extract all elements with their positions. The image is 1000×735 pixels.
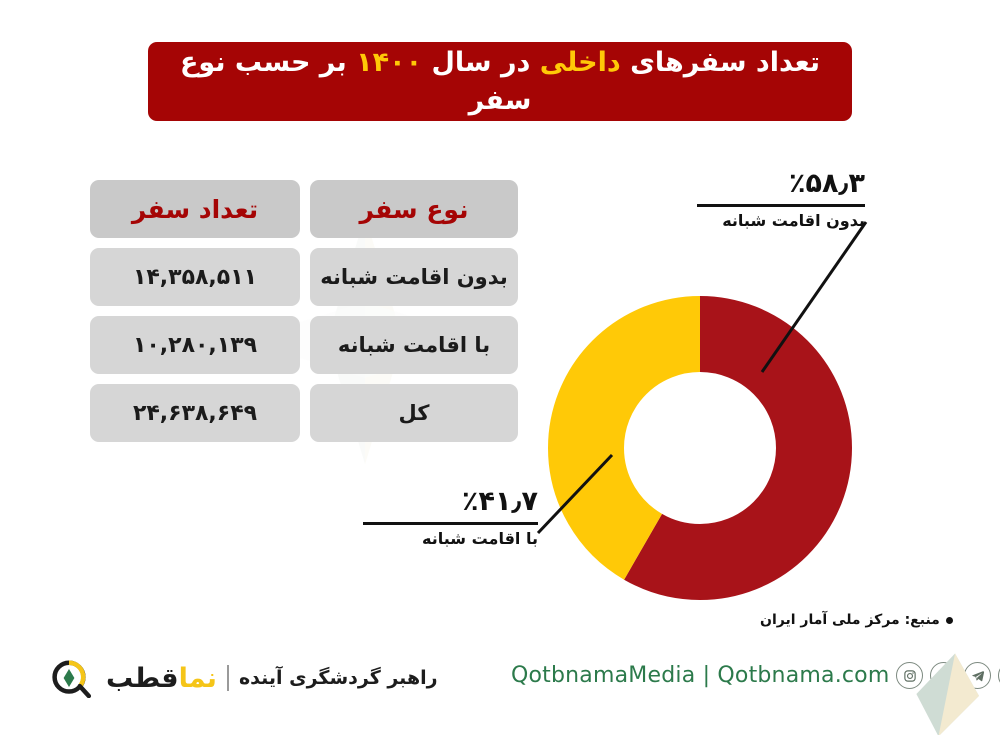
social-footer: QotbnamaMedia | Qotbnama.com [502, 662, 1000, 689]
table-row: با اقامت شبانه ۱۰,۲۸۰,۱۳۹ [90, 316, 518, 374]
callout-bottom-label: با اقامت شبانه [363, 529, 538, 548]
table-cell-count-value: ۱۰,۲۸۰,۱۳۹ [133, 333, 257, 358]
title-highlight-year: ۱۴۰۰ [356, 47, 422, 78]
social-handle-website: Qotbnama.com [717, 663, 889, 688]
title-part-1: تعداد سفرهای [621, 47, 820, 78]
brand-wordmark-part-b: قطب [106, 663, 179, 694]
social-handle-media: QotbnamaMedia [511, 663, 695, 688]
qotbnama-logo-icon [42, 658, 96, 698]
callout-bottom-rule [363, 522, 538, 525]
instagram-icon[interactable] [896, 662, 923, 689]
chart-title-banner: تعداد سفرهای داخلی در سال ۱۴۰۰ بر حسب نو… [148, 42, 852, 121]
telegram-icon[interactable] [964, 662, 991, 689]
callout-top-rule [697, 204, 865, 207]
social-handles[interactable]: QotbnamaMedia | Qotbnama.com [511, 663, 889, 688]
callout-bottom-percent: ٪۴۱٫۷ [363, 486, 538, 517]
table-cell-count-value: ۱۴,۳۵۸,۵۱۱ [133, 265, 257, 290]
table-cell-type-label: کل [399, 401, 430, 425]
callout-with-overnight: ٪۴۱٫۷ با اقامت شبانه [363, 486, 538, 548]
table-cell-type: بدون اقامت شبانه [310, 248, 518, 306]
table-header-count-label: تعداد سفر [132, 195, 258, 224]
linkedin-icon[interactable] [930, 662, 957, 689]
social-handle-separator: | [695, 663, 717, 688]
table-cell-type: کل [310, 384, 518, 442]
title-part-2: در سال [422, 47, 540, 78]
title-highlight-domestic: داخلی [540, 47, 621, 78]
source-note: منبع: مرکز ملی آمار ایران [760, 612, 953, 628]
table-cell-type: با اقامت شبانه [310, 316, 518, 374]
table-cell-count: ۱۴,۳۵۸,۵۱۱ [90, 248, 300, 306]
table-cell-count: ۲۴,۶۳۸,۶۴۹ [90, 384, 300, 442]
infographic-page: تعداد سفرهای داخلی در سال ۱۴۰۰ بر حسب نو… [0, 0, 1000, 735]
brand-wordmark-part-a: نما [179, 663, 217, 694]
table-cell-count: ۱۰,۲۸۰,۱۳۹ [90, 316, 300, 374]
page-title: تعداد سفرهای داخلی در سال ۱۴۰۰ بر حسب نو… [166, 44, 834, 119]
callout-top-label: بدون اقامت شبانه [697, 211, 865, 230]
table-header-row: نوع سفر تعداد سفر [90, 180, 518, 238]
table-row: بدون اقامت شبانه ۱۴,۳۵۸,۵۱۱ [90, 248, 518, 306]
table-header-type: نوع سفر [310, 180, 518, 238]
bullet-icon [946, 617, 953, 624]
callout-without-overnight: ٪۵۸٫۳ بدون اقامت شبانه [697, 168, 865, 230]
table-row: کل ۲۴,۶۳۸,۶۴۹ [90, 384, 518, 442]
table-cell-count-value: ۲۴,۶۳۸,۶۴۹ [133, 401, 257, 426]
donut-chart [548, 296, 852, 600]
trips-table: نوع سفر تعداد سفر بدون اقامت شبانه ۱۴,۳۵… [90, 180, 518, 452]
source-note-text: منبع: مرکز ملی آمار ایران [760, 612, 940, 628]
brand-footer: نماقطب راهبر گردشگری آینده [42, 658, 438, 698]
footer-divider [227, 665, 229, 691]
table-cell-type-label: با اقامت شبانه [338, 333, 490, 357]
brand-wordmark: نماقطب [106, 663, 217, 694]
brand-tagline: راهبر گردشگری آینده [239, 667, 438, 689]
table-header-type-label: نوع سفر [360, 195, 469, 224]
table-cell-type-label: بدون اقامت شبانه [320, 265, 507, 289]
table-header-count: تعداد سفر [90, 180, 300, 238]
callout-top-percent: ٪۵۸٫۳ [697, 168, 865, 199]
donut-chart-svg [548, 296, 852, 600]
